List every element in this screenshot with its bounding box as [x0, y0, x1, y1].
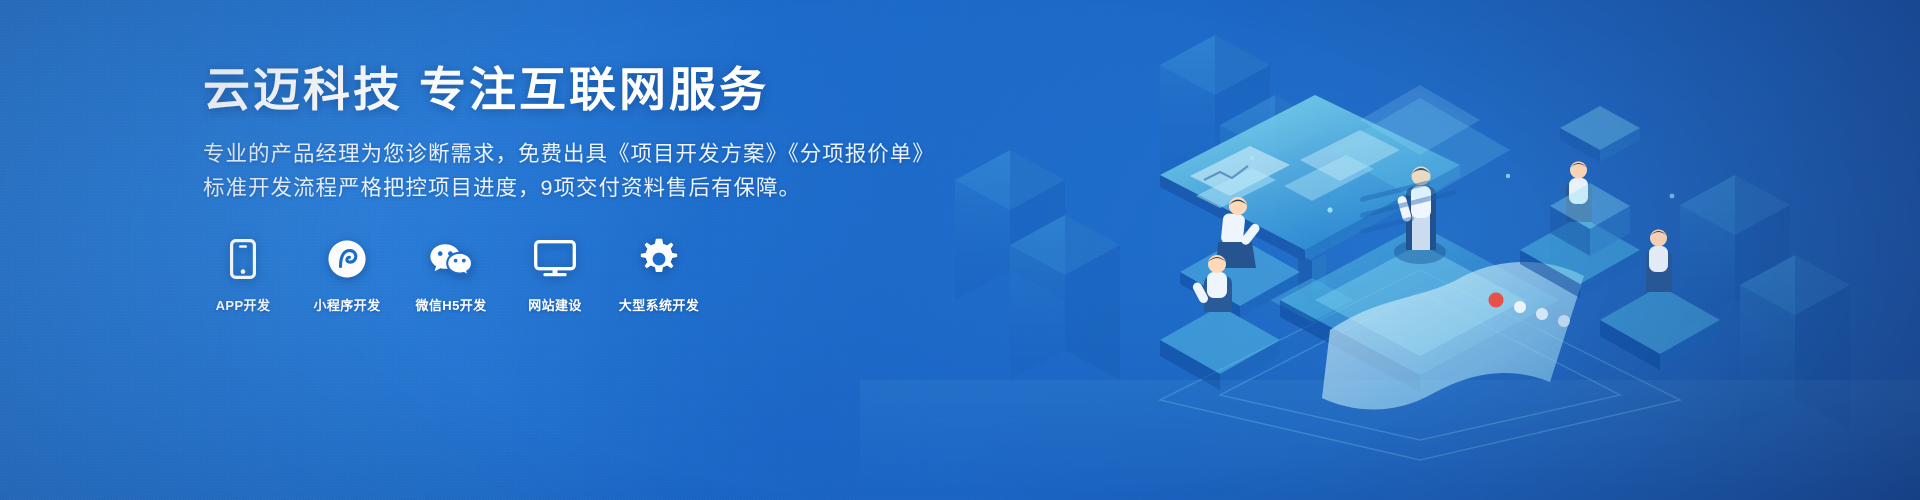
subtitle-line-2: 标准开发流程严格把控项目进度，9项交付资料售后有保障。	[203, 171, 963, 205]
mini-program-icon	[327, 234, 367, 284]
service-item-large-system[interactable]: 大型系统开发	[622, 234, 696, 314]
page-title: 云迈科技 专注互联网服务	[203, 62, 963, 117]
wechat-icon	[428, 234, 474, 284]
service-label: 大型系统开发	[619, 295, 699, 314]
service-item-app[interactable]: APP开发	[206, 234, 280, 314]
service-label: APP开发	[216, 295, 271, 314]
isometric-illustration	[860, 0, 1920, 500]
hero-copy: 云迈科技 专注互联网服务 专业的产品经理为您诊断需求，免费出具《项目开发方案》《…	[203, 62, 963, 205]
service-label: 微信H5开发	[415, 295, 486, 314]
monitor-icon	[534, 234, 576, 284]
service-label: 网站建设	[528, 295, 582, 314]
gear-icon	[638, 234, 680, 284]
service-item-wechat-h5[interactable]: 微信H5开发	[414, 234, 488, 314]
hero-banner: 云迈科技 专注互联网服务 专业的产品经理为您诊断需求，免费出具《项目开发方案》《…	[0, 0, 1920, 500]
subtitle-line-1: 专业的产品经理为您诊断需求，免费出具《项目开发方案》《分项报价单》	[203, 137, 963, 171]
hero-subtitle: 专业的产品经理为您诊断需求，免费出具《项目开发方案》《分项报价单》 标准开发流程…	[203, 137, 963, 205]
service-item-mini-program[interactable]: 小程序开发	[310, 234, 384, 314]
service-item-website[interactable]: 网站建设	[518, 234, 592, 314]
service-list: APP开发 小程序开发 微信	[206, 234, 696, 314]
service-label: 小程序开发	[313, 295, 380, 314]
mobile-phone-icon	[230, 234, 256, 284]
